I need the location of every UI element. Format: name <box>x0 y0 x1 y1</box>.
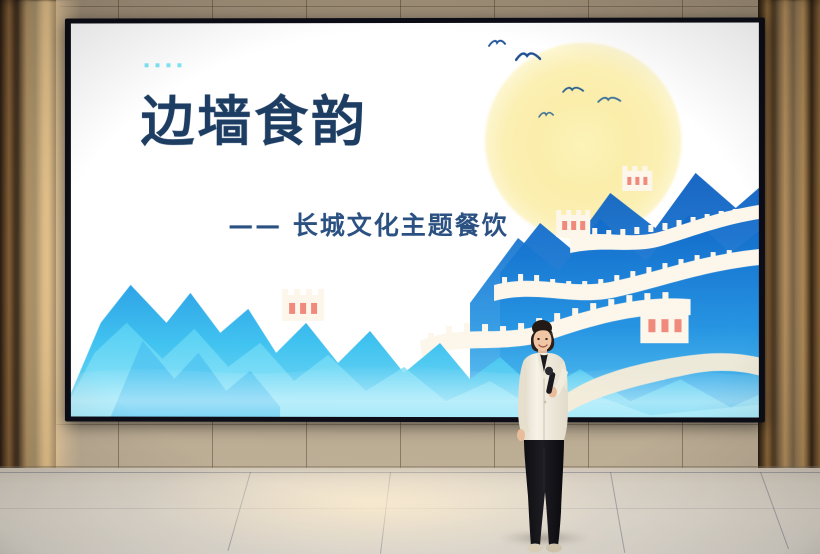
bird-icon <box>515 51 541 63</box>
bird-icon <box>538 111 554 119</box>
watchtower <box>282 289 324 321</box>
decor-dot <box>166 63 170 67</box>
bird-icon <box>488 39 506 48</box>
presentation-slide: 边墙食韵 —— 长城文化主题餐饮 <box>71 22 759 417</box>
accent-light-right <box>774 0 812 476</box>
watchtower <box>556 210 590 237</box>
floor-spotlight <box>120 470 680 554</box>
decor-dot <box>156 63 160 67</box>
watchtower <box>622 166 652 191</box>
led-display-bezel: 边墙食韵 —— 长城文化主题餐饮 <box>65 17 765 422</box>
bird-icon <box>562 85 584 95</box>
slide-title: 边墙食韵 <box>141 93 368 150</box>
decor-dot <box>145 63 149 67</box>
conference-stage-scene: 边墙食韵 —— 长城文化主题餐饮 <box>0 0 820 554</box>
bird-icon <box>597 95 621 105</box>
slide-subtitle: —— 长城文化主题餐饮 <box>228 206 509 242</box>
decor-dot <box>177 63 181 67</box>
presenter <box>504 316 582 554</box>
decor-dots <box>145 63 182 67</box>
